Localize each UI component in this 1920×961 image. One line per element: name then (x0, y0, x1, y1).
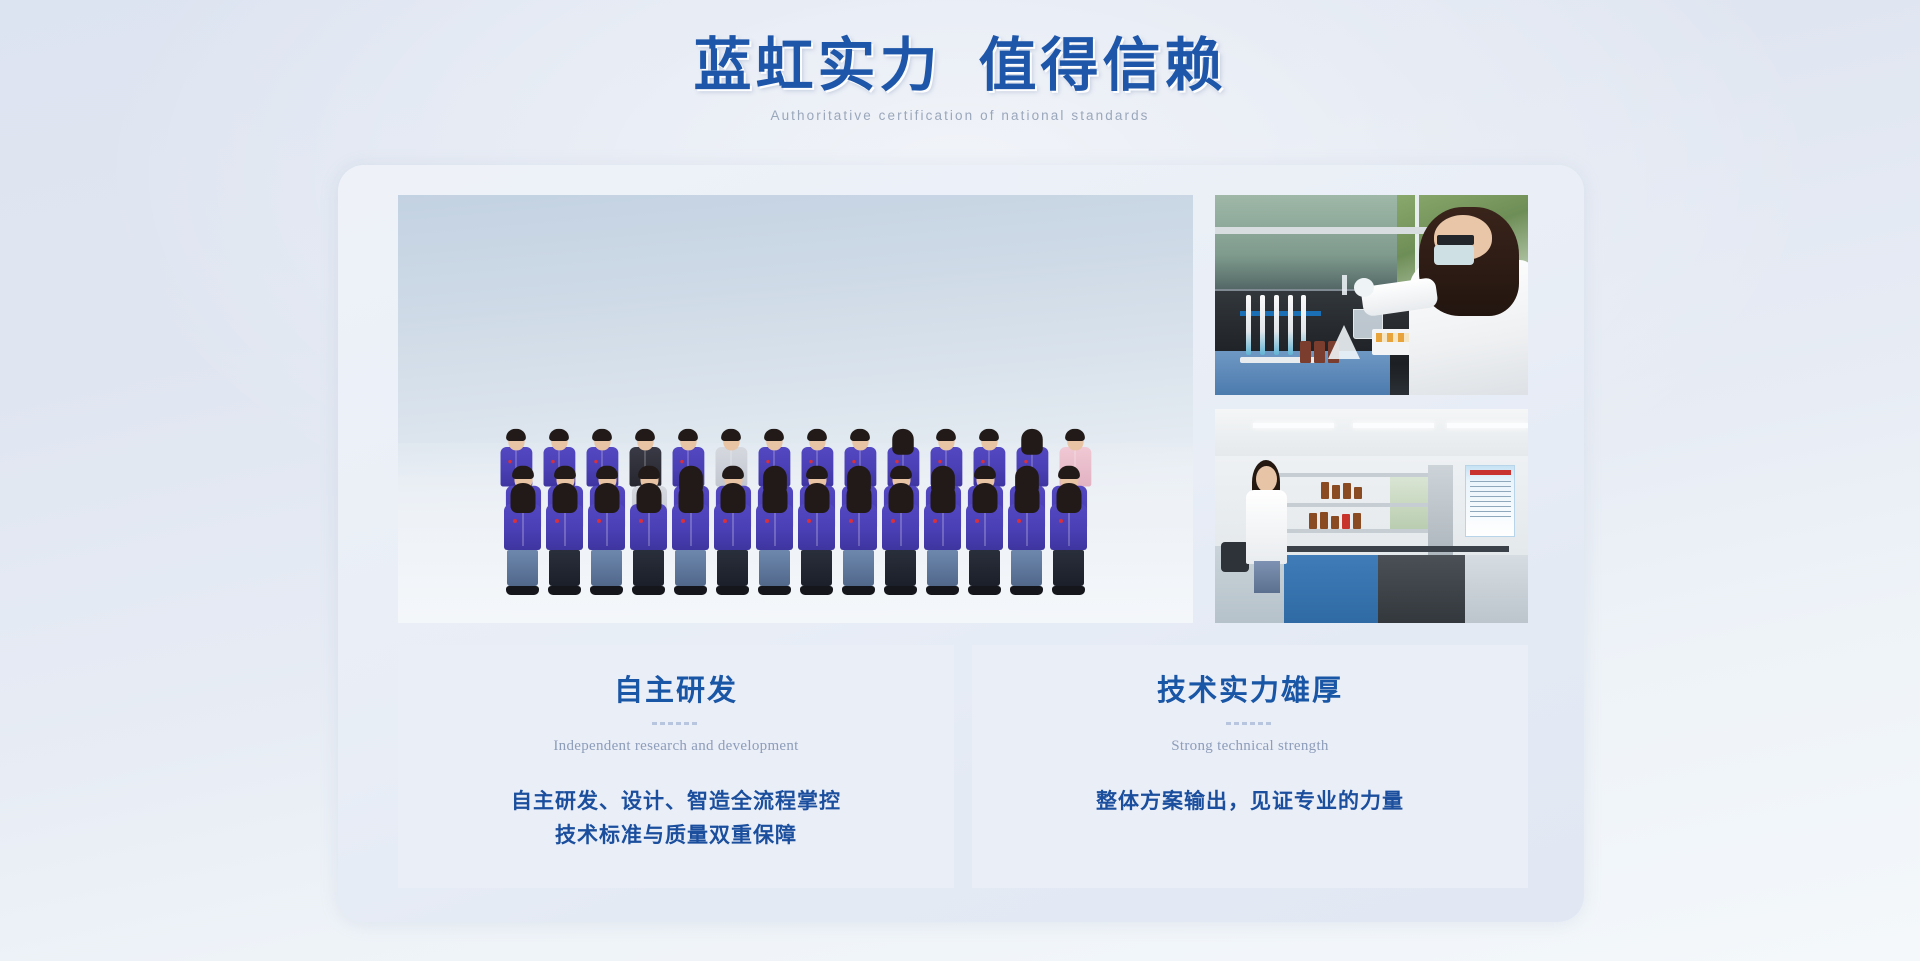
lab-stool (1221, 542, 1249, 572)
feature-cards: 自主研发 Independent research and developmen… (398, 645, 1528, 888)
card-english-rnd: Independent research and development (398, 738, 954, 755)
reagent-bottles-row-top (1321, 482, 1362, 499)
flask-neck (1342, 275, 1347, 295)
lab-shelf (1215, 227, 1440, 234)
feature-card-tech[interactable]: 技术实力雄厚 Strong technical strength 整体方案输出，… (972, 645, 1528, 888)
page-subtitle: Authoritative certification of national … (0, 108, 1920, 123)
lab-ceiling (1215, 409, 1528, 456)
lab-cabinet-blue (1284, 555, 1378, 623)
safety-poster (1465, 465, 1515, 538)
lab-cabinet-light (1465, 555, 1528, 623)
card-title-tech: 技术实力雄厚 (972, 667, 1528, 709)
card-description-tech: 整体方案输出，见证专业的力量 (972, 784, 1528, 818)
lab-photo-bottom[interactable] (1215, 409, 1528, 623)
reagent-shelf-middle (1278, 503, 1450, 507)
feature-card-rnd[interactable]: 自主研发 Independent research and developmen… (398, 645, 954, 888)
lab-bench-top (1284, 546, 1509, 552)
technician-glasses (1437, 235, 1475, 244)
researcher-legs (1254, 561, 1280, 593)
lab-photo-top[interactable] (1215, 195, 1528, 395)
media-gallery (398, 195, 1528, 623)
technician-mask (1434, 245, 1474, 266)
card-description-rnd: 自主研发、设计、智造全流程掌控 技术标准与质量双重保障 (398, 784, 954, 852)
lab-background (1215, 195, 1403, 295)
group-photo[interactable] (398, 195, 1193, 623)
reagent-shelf-lower (1278, 529, 1450, 533)
photo-row-front (398, 486, 1193, 595)
page-title: 蓝虹实力 值得信赖 (0, 34, 1920, 99)
content-panel: 自主研发 Independent research and developmen… (338, 165, 1584, 922)
card-divider-tech (1226, 722, 1274, 725)
card-title-rnd: 自主研发 (398, 667, 954, 709)
reagent-bottles-row-middle (1309, 512, 1361, 529)
reagent-shelf-top (1278, 473, 1450, 477)
lab-cabinet-dark (1378, 555, 1466, 623)
researcher-coat (1246, 490, 1287, 564)
page-header: 蓝虹实力 值得信赖 Authoritative certification of… (0, 0, 1920, 123)
card-divider-rnd (652, 722, 700, 725)
card-english-tech: Strong technical strength (972, 738, 1528, 755)
lab-researcher (1246, 460, 1287, 593)
lab-technician (1409, 207, 1528, 395)
